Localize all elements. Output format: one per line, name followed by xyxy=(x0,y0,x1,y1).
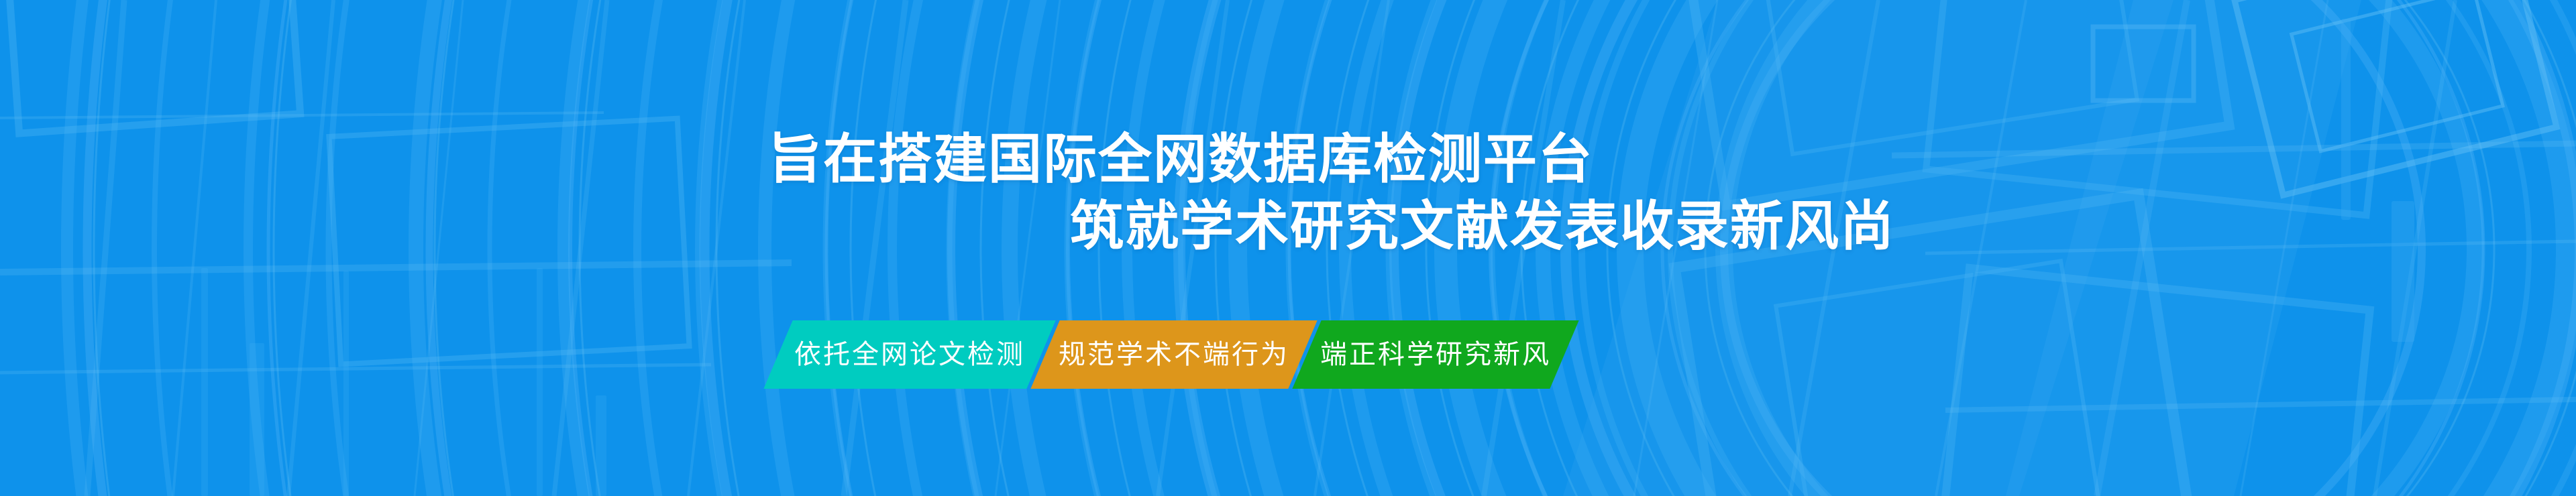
feature-tag-misconduct[interactable]: 规范学术不端行为 xyxy=(1030,320,1317,389)
feature-tag-group: 依托全网论文检测 规范学术不端行为 端正科学研究新风 xyxy=(778,320,1564,389)
headline-line-2: 筑就学术研究文献发表收录新风尚 xyxy=(0,193,2576,260)
headline-line-1: 旨在搭建国际全网数据库检测平台 xyxy=(0,126,2576,193)
feature-tag-integrity-label: 端正科学研究新风 xyxy=(1320,341,1551,368)
feature-tag-detection[interactable]: 依托全网论文检测 xyxy=(763,320,1055,389)
headline-block: 旨在搭建国际全网数据库检测平台 筑就学术研究文献发表收录新风尚 xyxy=(0,126,2576,260)
feature-tag-integrity[interactable]: 端正科学研究新风 xyxy=(1292,320,1578,389)
feature-tag-detection-label: 依托全网论文检测 xyxy=(794,341,1025,368)
hero-banner: 旨在搭建国际全网数据库检测平台 筑就学术研究文献发表收录新风尚 依托全网论文检测… xyxy=(0,0,2576,496)
feature-tag-misconduct-label: 规范学术不端行为 xyxy=(1059,341,1289,368)
